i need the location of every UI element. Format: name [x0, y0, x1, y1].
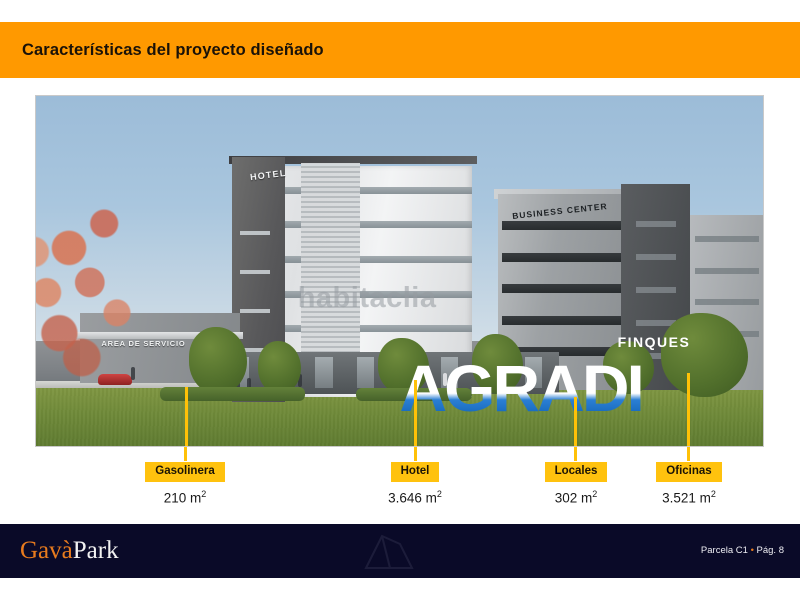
legend-label-gasolinera[interactable]: Gasolinera	[145, 462, 224, 482]
tree	[258, 341, 302, 394]
legend-area-gasolinera: 210 m2	[114, 489, 256, 506]
project-render-image: HOTEL BUSINESS CENTER	[35, 95, 764, 447]
pointer-stem	[574, 397, 577, 446]
legend-item-gasolinera: Gasolinera 210 m2	[114, 461, 256, 505]
slide: Características del proyecto diseñado	[0, 0, 800, 600]
legend-label-locales[interactable]: Locales	[545, 462, 608, 482]
legend-area-value: 3.646 m	[388, 490, 437, 505]
legend-area-unit: 2	[592, 489, 597, 499]
agradi-logo-text: AGRADI	[400, 355, 642, 421]
legend-item-hotel: Hotel 3.646 m2	[360, 461, 470, 505]
legend-area-unit: 2	[437, 489, 442, 499]
legend-area-locales: 302 m2	[518, 489, 634, 506]
legend-area-oficinas: 3.521 m2	[628, 489, 750, 506]
footer-parcel-text: Parcela C1	[701, 545, 748, 556]
legend-area-hotel: 3.646 m2	[360, 489, 470, 506]
tree	[661, 313, 748, 397]
pointer-stem	[185, 387, 188, 447]
hedge	[160, 387, 305, 401]
footer-bullet-icon: •	[751, 545, 754, 556]
legend-area-value: 302 m	[555, 490, 593, 505]
legend-area-unit: 2	[201, 489, 206, 499]
pointer-stem	[687, 373, 690, 447]
footer-page-text: Pág. 8	[757, 545, 784, 556]
footer-page-info: Parcela C1 • Pág. 8	[701, 524, 784, 578]
legend-area-value: 210 m	[164, 490, 202, 505]
habitaclia-watermark: habitaclia	[298, 282, 437, 315]
gavapark-logo[interactable]: GavàPark	[20, 524, 119, 578]
pointer-stem-lower	[184, 447, 187, 461]
logo-text-gava: Gavà	[20, 537, 73, 564]
header-bar: Características del proyecto diseñado	[0, 22, 800, 78]
page-title: Características del proyecto diseñado	[22, 22, 324, 78]
legend-area-unit: 2	[711, 489, 716, 499]
pointer-stem	[414, 380, 417, 447]
finques-kicker-text: FINQUES	[618, 334, 691, 350]
pointer-stem-lower	[414, 447, 417, 461]
legend-item-oficinas: Oficinas 3.521 m2	[628, 461, 750, 505]
legend-item-locales: Locales 302 m2	[518, 461, 634, 505]
footer-watermark-icon	[360, 530, 420, 572]
autumn-tree	[36, 187, 181, 390]
pointer-stem-lower	[574, 447, 577, 461]
hotel-louvers	[301, 163, 359, 373]
legend-area-value: 3.521 m	[662, 490, 711, 505]
logo-text-park: Park	[73, 537, 119, 564]
pointer-stem-lower	[687, 447, 690, 461]
legend-label-hotel[interactable]: Hotel	[391, 462, 440, 482]
footer-bar: GavàPark Parcela C1 • Pág. 8	[0, 524, 800, 578]
tree	[189, 327, 247, 394]
legend-label-oficinas[interactable]: Oficinas	[656, 462, 721, 482]
render-canvas: HOTEL BUSINESS CENTER	[36, 96, 763, 446]
